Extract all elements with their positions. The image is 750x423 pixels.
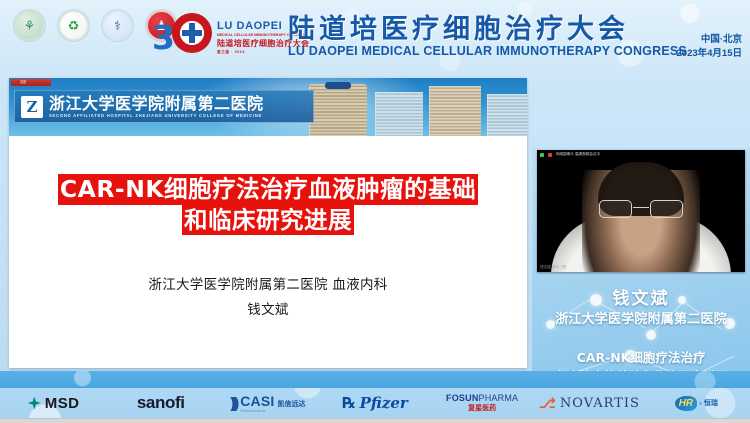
sponsor-fosun[interactable]: FOSUNPHARMA 复星医药 (429, 393, 536, 413)
sponsor-hengrui-label-cn: 恒瑞 (704, 398, 718, 408)
broadcast-page: ⚘ ♻ ⚕ ♟ 30 LU DAOPEI MEDICAL CELLULAR IM… (0, 0, 750, 423)
sponsor-hengrui[interactable]: HR ® 恒瑞 (643, 396, 750, 411)
slide-subtitle-presenter: 钱文斌 (9, 298, 527, 323)
sponsor-novartis[interactable]: ⎇ NOVARTIS (536, 394, 643, 412)
speaker-name: 钱文斌 (532, 284, 750, 309)
sponsor-fosun-label-cn: 复星医药 (468, 403, 496, 413)
pfizer-logo-icon: ℞ (342, 394, 355, 412)
sponsor-novartis-label: NOVARTIS (560, 396, 640, 411)
novartis-flame-icon: ⎇ (539, 394, 556, 412)
medical-cross-icon (172, 13, 212, 53)
slide-corner-tab: 讲座 (11, 79, 51, 86)
speaker-video-feed[interactable]: 网络摄像头 高清视频会议中 钱文斌 浙大二院 (537, 150, 745, 272)
hospital-name-cn: 浙江大学医学院附属第二医院 (49, 95, 264, 113)
speaker-glasses-icon (599, 200, 683, 218)
speaker-affiliation: 浙江大学医学院附属第二医院 (532, 308, 750, 327)
conference-header: ⚘ ♻ ⚕ ♟ 30 LU DAOPEI MEDICAL CELLULAR IM… (0, 0, 750, 74)
building-illustration-3 (429, 86, 481, 136)
building-illustration-2 (375, 92, 423, 136)
slide-corner-tab-label: 讲座 (11, 79, 51, 86)
building-illustration-4 (487, 94, 527, 136)
slide-subtitle: 浙江大学医学院附属第二医院 血液内科 钱文斌 (9, 273, 527, 323)
congress-logo-mark-icon: 30 (152, 7, 214, 67)
video-name-caption: 钱文斌 浙大二院 (540, 265, 566, 270)
sponsor-fosun-label-2: PHARMA (479, 393, 519, 403)
slide-subtitle-affiliation: 浙江大学医学院附属第二医院 血液内科 (9, 273, 527, 298)
sponsor-casi[interactable]: ))) CASI 凯信远达 Pharmaceuticals (214, 393, 321, 413)
video-status-text: 网络摄像头 高清视频会议中 (556, 152, 600, 157)
sponsor-sanofi[interactable]: sanofi (107, 393, 214, 413)
hengrui-logo-icon: HR (675, 396, 697, 411)
seal-logo-2-icon: ♻ (58, 10, 89, 41)
building-rooftop-cap (325, 82, 351, 89)
sponsor-bar: MSD sanofi ))) CASI 凯信远达 Pharmaceuticals… (0, 388, 750, 418)
sponsor-fosun-label: FOSUN (446, 393, 479, 403)
event-date: 2023年4月15日 (677, 47, 742, 61)
slide-title: CAR-NK细胞疗法治疗血液肿瘤的基础 和临床研究进展 (9, 174, 527, 235)
presentation-stage: 讲座 Z 浙江大学医学院附属第二医院 SECOND AFFILIATED HOS… (0, 74, 750, 371)
sponsor-casi-label-cn: 凯信远达 (277, 399, 305, 409)
sponsor-msd[interactable]: MSD (0, 395, 107, 412)
sponsor-pfizer[interactable]: ℞ Pfizer (321, 394, 428, 412)
sponsor-casi-label: CASI (240, 393, 274, 409)
decorative-blue-band (0, 371, 750, 388)
msd-logo-icon (28, 397, 41, 410)
sponsor-sanofi-label: sanofi (137, 393, 185, 413)
sponsor-casi-sub: Pharmaceuticals (240, 409, 265, 413)
casi-wave-icon: ))) (230, 395, 236, 412)
event-location-date: 中国·北京 2023年4月15日 (677, 33, 742, 61)
seal-logo-3-icon: ⚕ (102, 10, 133, 41)
event-location: 中国·北京 (677, 33, 742, 47)
slide-title-line-2: 和临床研究进展 (182, 205, 354, 236)
congress-title-en: LU DAOPEI MEDICAL CELLULAR IMMUNOTHERAPY… (288, 44, 687, 58)
sponsor-pfizer-label: Pfizer (360, 394, 408, 412)
seal-logo-1-icon: ⚘ (14, 10, 45, 41)
hospital-logo-icon: Z (21, 96, 43, 118)
slide-header-banner: 讲座 Z 浙江大学医学院附属第二医院 SECOND AFFILIATED HOS… (9, 78, 527, 136)
hospital-identity-bar: Z 浙江大学医学院附属第二医院 SECOND AFFILIATED HOSPIT… (14, 90, 314, 123)
camera-on-indicator-icon (540, 153, 544, 157)
recording-indicator-icon (548, 153, 552, 157)
building-illustration-1 (309, 84, 367, 136)
registered-mark-icon: ® (699, 401, 702, 406)
congress-logo: 30 LU DAOPEI MEDICAL CELLULAR IMMUNOTHER… (152, 6, 278, 68)
hospital-name-en: SECOND AFFILIATED HOSPITAL ZHEJIANG UNIV… (49, 113, 264, 118)
presentation-slide[interactable]: 讲座 Z 浙江大学医学院附属第二医院 SECOND AFFILIATED HOS… (9, 78, 527, 368)
slide-title-line-1: CAR-NK细胞疗法治疗血液肿瘤的基础 (58, 174, 478, 205)
video-status-bar: 网络摄像头 高清视频会议中 (537, 150, 745, 159)
bottom-status-strip (0, 418, 750, 423)
talk-title-line-1: CAR-NK细胞疗法治疗 (532, 349, 750, 368)
sponsor-msd-label: MSD (45, 395, 80, 412)
congress-title-cn: 陆道培医疗细胞治疗大会 (288, 7, 629, 46)
